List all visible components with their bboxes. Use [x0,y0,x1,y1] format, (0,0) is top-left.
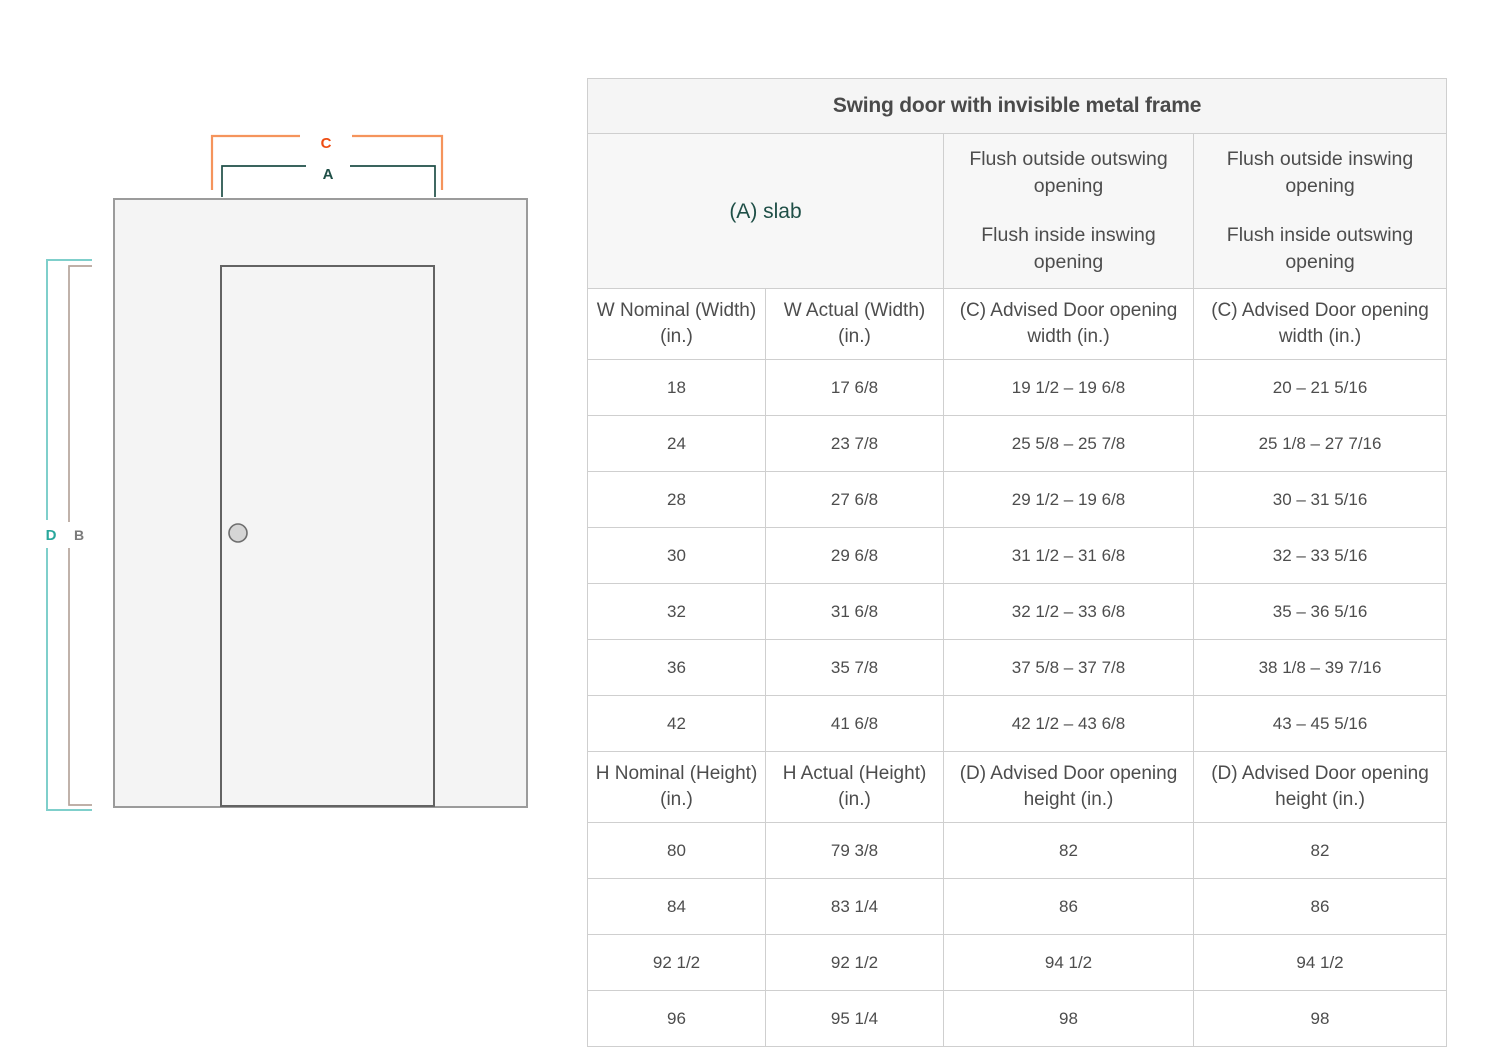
cell-outswing: 86 [944,879,1194,935]
table-title-row: Swing door with invisible metal frame [588,79,1447,134]
cell-actual: 83 1/4 [766,879,944,935]
cell-inswing: 98 [1194,991,1447,1047]
subheader-h-actual: H Actual (Height) (in.) [766,752,944,823]
cell-nominal: 30 [588,528,766,584]
table-row: 24 23 7/8 25 5/8 – 25 7/8 25 1/8 – 27 7/… [588,416,1447,472]
subheader-c-inswing-width: (C) Advised Door opening width (in.) [1194,289,1447,360]
cell-actual: 92 1/2 [766,935,944,991]
cell-nominal: 92 1/2 [588,935,766,991]
size-table-container: Swing door with invisible metal frame (A… [587,78,1447,1047]
cell-inswing: 20 – 21 5/16 [1194,360,1447,416]
table-row: 92 1/2 92 1/2 94 1/2 94 1/2 [588,935,1447,991]
table-row: 36 35 7/8 37 5/8 – 37 7/8 38 1/8 – 39 7/… [588,640,1447,696]
door-size-table: Swing door with invisible metal frame (A… [587,78,1447,1047]
subheader-h-nominal: H Nominal (Height) (in.) [588,752,766,823]
cell-outswing: 98 [944,991,1194,1047]
cell-nominal: 42 [588,696,766,752]
door-diagram: C A D B [0,0,575,1000]
cell-outswing: 42 1/2 – 43 6/8 [944,696,1194,752]
table-row: 96 95 1/4 98 98 [588,991,1447,1047]
cell-outswing: 29 1/2 – 19 6/8 [944,472,1194,528]
cell-nominal: 32 [588,584,766,640]
label-c: C [321,135,332,152]
group-header-inswing: Flush outside inswing opening Flush insi… [1194,134,1447,289]
label-a: A [323,166,334,183]
cell-actual: 29 6/8 [766,528,944,584]
cell-outswing: 31 1/2 – 31 6/8 [944,528,1194,584]
table-row: 28 27 6/8 29 1/2 – 19 6/8 30 – 31 5/16 [588,472,1447,528]
cell-outswing: 19 1/2 – 19 6/8 [944,360,1194,416]
cell-inswing: 35 – 36 5/16 [1194,584,1447,640]
subheader-c-outswing-width: (C) Advised Door opening width (in.) [944,289,1194,360]
cell-actual: 23 7/8 [766,416,944,472]
table-row: 84 83 1/4 86 86 [588,879,1447,935]
cell-outswing: 32 1/2 – 33 6/8 [944,584,1194,640]
cell-nominal: 80 [588,823,766,879]
cell-outswing: 37 5/8 – 37 7/8 [944,640,1194,696]
group-header-row: (A) slab Flush outside outswing opening … [588,134,1447,289]
door-knob-icon [229,524,247,542]
cell-inswing: 30 – 31 5/16 [1194,472,1447,528]
cell-actual: 17 6/8 [766,360,944,416]
cell-inswing: 86 [1194,879,1447,935]
subheader-w-actual: W Actual (Width) (in.) [766,289,944,360]
cell-outswing: 82 [944,823,1194,879]
cell-inswing: 43 – 45 5/16 [1194,696,1447,752]
group-header-inswing-line1: Flush outside inswing opening [1227,148,1413,197]
table-row: 42 41 6/8 42 1/2 – 43 6/8 43 – 45 5/16 [588,696,1447,752]
group-header-outswing-line2: Flush inside inswing opening [950,222,1187,276]
group-header-inswing-line2: Flush inside outswing opening [1200,222,1440,276]
cell-actual: 79 3/8 [766,823,944,879]
cell-outswing: 94 1/2 [944,935,1194,991]
cell-inswing: 82 [1194,823,1447,879]
group-header-outswing-line1: Flush outside outswing opening [969,148,1167,197]
table-row: 32 31 6/8 32 1/2 – 33 6/8 35 – 36 5/16 [588,584,1447,640]
cell-inswing: 38 1/8 – 39 7/16 [1194,640,1447,696]
cell-nominal: 24 [588,416,766,472]
group-header-outswing: Flush outside outswing opening Flush ins… [944,134,1194,289]
table-row: 80 79 3/8 82 82 [588,823,1447,879]
cell-nominal: 28 [588,472,766,528]
height-subheader-row: H Nominal (Height) (in.) H Actual (Heigh… [588,752,1447,823]
subheader-w-nominal: W Nominal (Width) (in.) [588,289,766,360]
cell-inswing: 25 1/8 – 27 7/16 [1194,416,1447,472]
cell-outswing: 25 5/8 – 25 7/8 [944,416,1194,472]
subheader-d-outswing-height: (D) Advised Door opening height (in.) [944,752,1194,823]
door-slab [221,266,434,806]
subheader-d-inswing-height: (D) Advised Door opening height (in.) [1194,752,1447,823]
label-b: B [74,527,84,543]
cell-actual: 31 6/8 [766,584,944,640]
cell-actual: 35 7/8 [766,640,944,696]
cell-actual: 27 6/8 [766,472,944,528]
cell-nominal: 96 [588,991,766,1047]
cell-inswing: 94 1/2 [1194,935,1447,991]
table-title: Swing door with invisible metal frame [588,79,1447,134]
group-header-slab: (A) slab [588,134,944,289]
cell-nominal: 18 [588,360,766,416]
table-row: 18 17 6/8 19 1/2 – 19 6/8 20 – 21 5/16 [588,360,1447,416]
cell-actual: 41 6/8 [766,696,944,752]
table-row: 30 29 6/8 31 1/2 – 31 6/8 32 – 33 5/16 [588,528,1447,584]
cell-actual: 95 1/4 [766,991,944,1047]
width-subheader-row: W Nominal (Width) (in.) W Actual (Width)… [588,289,1447,360]
label-d: D [46,527,57,544]
cell-inswing: 32 – 33 5/16 [1194,528,1447,584]
cell-nominal: 84 [588,879,766,935]
cell-nominal: 36 [588,640,766,696]
